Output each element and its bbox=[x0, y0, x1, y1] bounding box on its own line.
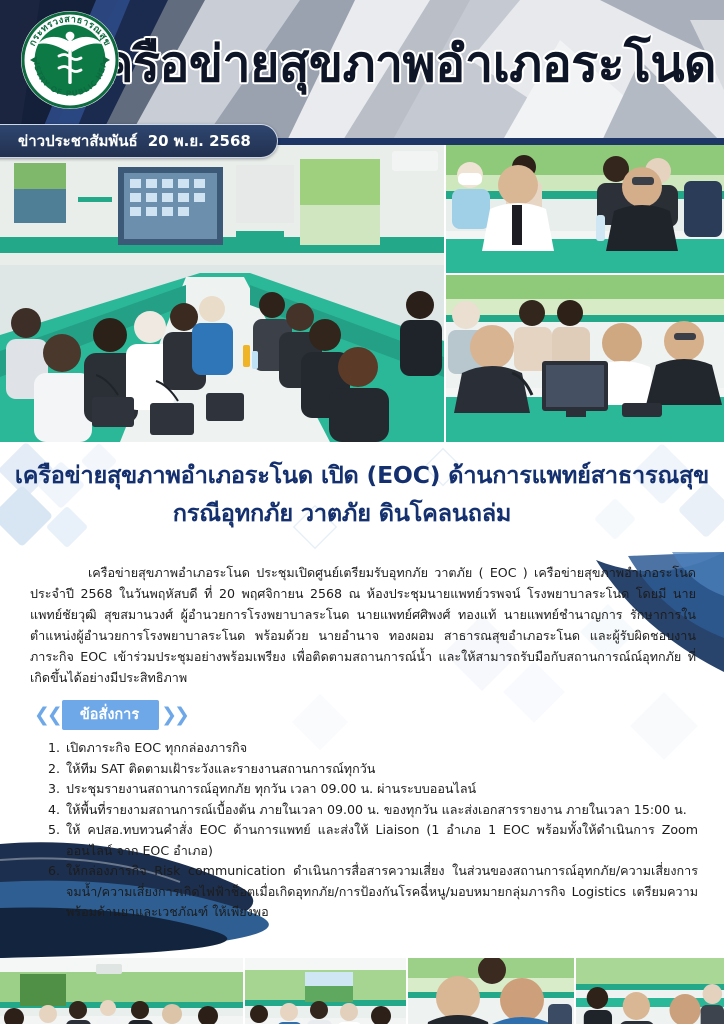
headline-text: เครือข่ายสุขภาพอำเภอระโนด เปิด (EOC) ด้า… bbox=[0, 442, 724, 532]
staff-row-image bbox=[446, 275, 724, 442]
conference-room-left-image bbox=[0, 958, 243, 1024]
list-item: 3. ประชุมรายงานสถานการณ์อุทกภัย ทุกวัน เ… bbox=[48, 779, 698, 800]
photo-collage-bottom bbox=[0, 958, 724, 1024]
body-section: เครือข่ายสุขภาพอำเภอระโนด ประชุมเปิดศูนย… bbox=[0, 552, 724, 958]
headline-band: เครือข่ายสุขภาพอำเภอระโนด เปิด (EOC) ด้า… bbox=[0, 442, 724, 552]
two-staff-closeup-image bbox=[408, 958, 574, 1024]
chevron-left-icon: ❮❮ bbox=[34, 706, 60, 725]
photo-two-staff-closeup bbox=[408, 958, 574, 1024]
list-item-text: ให้กล่องภารกิจ Risk communication ดำเนิน… bbox=[66, 863, 698, 919]
list-item-number: 2. bbox=[48, 759, 60, 780]
list-item-number: 1. bbox=[48, 738, 60, 759]
orders-section-header: ❮❮ ข้อสั่งการ ❯❯ bbox=[34, 702, 187, 728]
list-item: 1. เปิดภาระกิจ EOC ทุกกล่องภารกิจ bbox=[48, 738, 698, 759]
list-item-text: ให้ทีม SAT ติดตามเฝ้าระวังและรายงานสถานก… bbox=[66, 761, 375, 776]
list-item: 6. ให้กล่องภารกิจ Risk communication ดำเ… bbox=[48, 861, 698, 923]
news-date-badge-date: 20 พ.ย. 2568 bbox=[148, 129, 251, 153]
orders-section-title: ข้อสั่งการ bbox=[62, 700, 159, 730]
photo-collage-top-right-column bbox=[446, 145, 724, 442]
list-item-number: 5. bbox=[48, 820, 60, 841]
photo-meeting-room-wide bbox=[0, 145, 444, 442]
attendees-center-image bbox=[245, 958, 406, 1024]
list-item: 4. ให้พื้นที่รายงามสถานการณ์เบื้องต้น ภา… bbox=[48, 800, 698, 821]
poster-root: กระทรวงสาธารณสุข MINISTRY OF PUBLIC HEAL… bbox=[0, 0, 724, 1024]
list-item-text: ประชุมรายงานสถานการณ์อุทกภัย ทุกวัน เวลา… bbox=[66, 781, 476, 796]
photo-staff-row-monitors bbox=[446, 275, 724, 442]
list-item-number: 4. bbox=[48, 800, 60, 821]
header-title: เครือข่ายสุขภาพอำเภอระโนด bbox=[130, 20, 716, 108]
list-item: 2. ให้ทีม SAT ติดตามเฝ้าระวังและรายงานสถ… bbox=[48, 759, 698, 780]
ministry-logo: กระทรวงสาธารณสุข MINISTRY OF PUBLIC HEAL… bbox=[18, 6, 122, 114]
headline-line-2: กรณีอุทกภัย วาตภัย ดินโคลนถล่ม bbox=[0, 494, 724, 532]
executives-image bbox=[446, 145, 724, 273]
caduceus-seal-icon: กระทรวงสาธารณสุข MINISTRY OF PUBLIC HEAL… bbox=[18, 6, 122, 114]
photo-executives-at-table bbox=[446, 145, 724, 273]
list-item-text: ให้พื้นที่รายงามสถานการณ์เบื้องต้น ภายใน… bbox=[66, 802, 687, 817]
photo-collage-top bbox=[0, 145, 724, 442]
news-date-badge: ข่าวประชาสัมพันธ์ 20 พ.ย. 2568 bbox=[0, 124, 278, 158]
attendees-right-image bbox=[576, 958, 724, 1024]
news-date-badge-label: ข่าวประชาสัมพันธ์ bbox=[18, 129, 138, 153]
photo-attendees-center bbox=[245, 958, 406, 1024]
photo-attendees-right bbox=[576, 958, 724, 1024]
list-item-number: 3. bbox=[48, 779, 60, 800]
photo-conference-room-left bbox=[0, 958, 243, 1024]
list-item-text: ให้ คปสอ.ทบทวนคำสั่ง EOC ด้านการแพทย์ แล… bbox=[66, 822, 698, 858]
list-item: 5. ให้ คปสอ.ทบทวนคำสั่ง EOC ด้านการแพทย์… bbox=[48, 820, 698, 861]
list-item-number: 6. bbox=[48, 861, 60, 882]
meeting-room-wide-image bbox=[0, 145, 444, 442]
body-paragraph: เครือข่ายสุขภาพอำเภอระโนด ประชุมเปิดศูนย… bbox=[30, 562, 696, 688]
orders-list: 1. เปิดภาระกิจ EOC ทุกกล่องภารกิจ 2. ให้… bbox=[48, 738, 698, 923]
headline-line-1: เครือข่ายสุขภาพอำเภอระโนด เปิด (EOC) ด้า… bbox=[0, 456, 724, 494]
list-item-text: เปิดภาระกิจ EOC ทุกกล่องภารกิจ bbox=[66, 740, 247, 755]
chevron-right-icon: ❯❯ bbox=[161, 706, 187, 725]
